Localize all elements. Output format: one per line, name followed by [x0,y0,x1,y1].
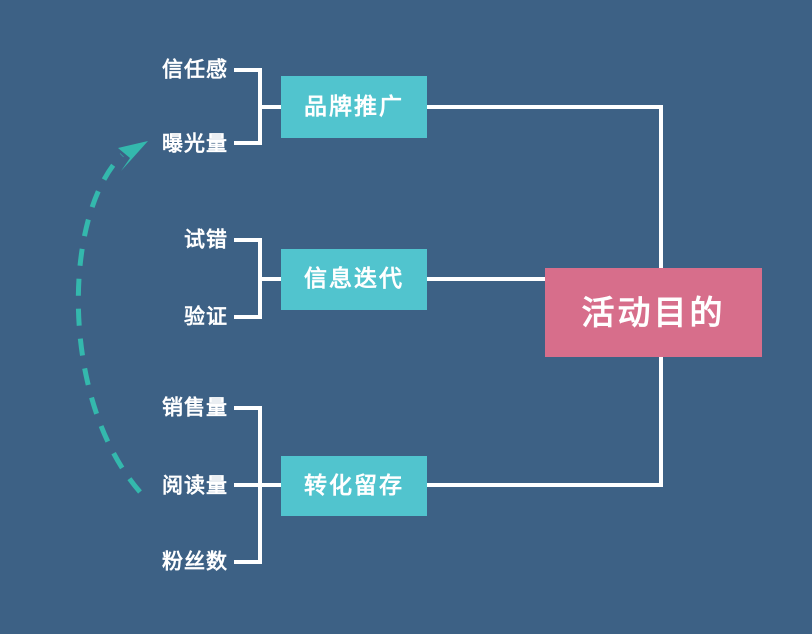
bracket-conversion-retention [234,408,281,562]
diagram-canvas: 信任感 曝光量 试错 验证 销售量 阅读量 粉丝数 品牌推广 信息迭代 转化留存… [0,0,812,634]
node-information-iteration-label: 信息迭代 [304,268,404,291]
bracket-brand-promotion [234,70,281,143]
leaf-label-exposure: 曝光量 [162,134,228,155]
leaf-label-trust: 信任感 [162,60,228,81]
bracket-information-iteration [234,240,281,317]
leaf-label-sales-volume: 销售量 [162,398,228,419]
node-information-iteration[interactable]: 信息迭代 [281,249,427,310]
leaf-label-follower-count: 粉丝数 [162,552,228,573]
node-activity-goal[interactable]: 活动目的 [545,268,762,357]
node-conversion-retention-label: 转化留存 [304,475,404,498]
link-conversion-to-goal [427,357,661,485]
feedback-arrow [78,141,148,492]
node-brand-promotion-label: 品牌推广 [304,96,404,119]
node-brand-promotion[interactable]: 品牌推广 [281,76,427,138]
node-activity-goal-label: 活动目的 [582,296,726,329]
leaf-label-validation: 验证 [184,307,228,328]
link-brand-to-goal [427,107,661,269]
node-conversion-retention[interactable]: 转化留存 [281,456,427,516]
leaf-label-trial-error: 试错 [184,230,228,251]
leaf-label-read-count: 阅读量 [162,476,228,497]
